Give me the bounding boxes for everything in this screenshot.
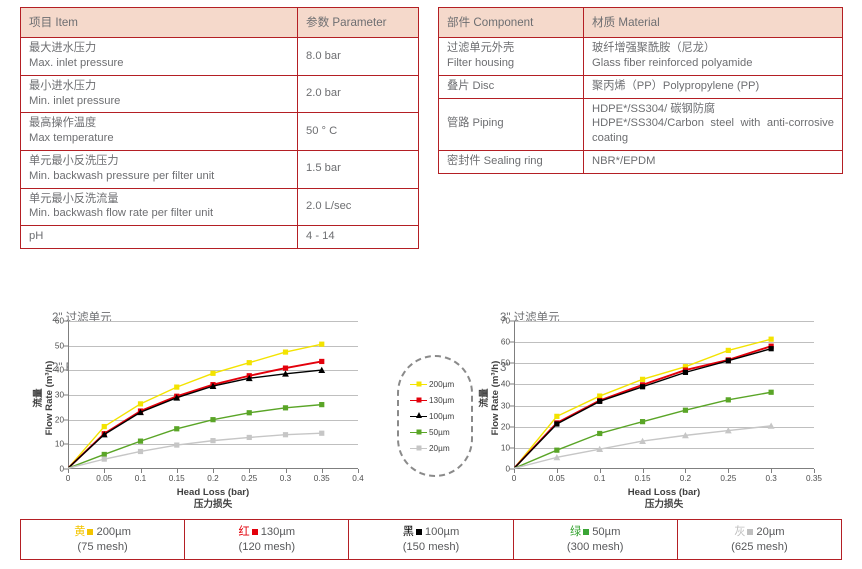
x-axis-tickmark — [643, 469, 644, 473]
spec-item-cn: 单元最小反洗压力 — [29, 154, 289, 169]
chart-2in-series-layer — [68, 321, 358, 469]
spec-item-cell: 最高操作温度Max temperature — [21, 113, 298, 151]
data-point-50µm — [683, 408, 688, 413]
mesh-micron-label: 50µm — [592, 525, 620, 540]
data-point-20µm — [174, 442, 179, 447]
y-axis-label-cn: 流量 — [33, 314, 44, 482]
data-point-200µm — [597, 393, 602, 398]
data-point-20µm — [283, 432, 288, 437]
material-value-cell: 聚丙烯（PP）Polypropylene (PP) — [584, 75, 843, 98]
data-point-50µm — [138, 439, 143, 444]
y-axis-label-en: Flow Rate (m³/h) — [44, 314, 55, 482]
legend-label: 130µm — [429, 396, 454, 405]
material-value-cell: NBR*/EPDM — [584, 150, 843, 173]
data-point-20µm — [138, 449, 143, 454]
mesh-color-swatch — [416, 529, 422, 535]
mesh-micron-label: 130µm — [261, 525, 295, 540]
data-point-200µm — [283, 349, 288, 354]
spec-item-cn: pH — [29, 229, 289, 244]
spec-value-cell: 1.5 bar — [298, 150, 419, 188]
mesh-micron-label: 20µm — [756, 525, 784, 540]
x-axis-tickmark — [68, 469, 69, 473]
material-value-cn: 聚丙烯（PP）Polypropylene (PP) — [592, 79, 834, 94]
table-header-row: 项目 Item 参数 Parameter — [21, 8, 419, 38]
x-axis-tickmark — [771, 469, 772, 473]
chart-3in-series-layer — [514, 321, 814, 469]
mesh-color-name-cn: 灰 — [734, 525, 745, 540]
data-point-50µm — [283, 405, 288, 410]
legend-swatch-50µm — [410, 428, 427, 437]
mesh-color-swatch — [252, 529, 258, 535]
mesh-size-legend-bar: 黄200µm(75 mesh)红130µm(120 mesh)黑100µm(15… — [20, 519, 842, 560]
material-component-cn: 管路 Piping — [447, 116, 575, 131]
mesh-color-swatch — [87, 529, 93, 535]
series-line-20µm — [68, 433, 322, 468]
mesh-count-label: (120 mesh) — [239, 540, 296, 555]
data-point-50µm — [210, 417, 215, 422]
x-axis-tickmark — [177, 469, 178, 473]
legend-item: 20µm — [410, 440, 471, 456]
data-point-200µm — [769, 337, 774, 342]
data-point-50µm — [640, 419, 645, 424]
spec-item-cell: 单元最小反洗压力Min. backwash pressure per filte… — [21, 150, 298, 188]
data-point-130µm — [319, 359, 324, 364]
spec-item-cn: 最高操作温度 — [29, 116, 289, 131]
table-row: 过滤单元外壳Filter housing玻纤增强聚酰胺（尼龙）Glass fib… — [439, 38, 843, 76]
mesh-legend-cell: 红130µm(120 mesh) — [185, 520, 349, 559]
spec-value-cell: 2.0 L/sec — [298, 188, 419, 226]
data-point-50µm — [554, 448, 559, 453]
chart-3in-x-axis-label: Head Loss (bar)压力损失 — [514, 487, 814, 511]
mesh-count-label: (150 mesh) — [403, 540, 460, 555]
x-axis-tickmark — [286, 469, 287, 473]
mesh-count-label: (75 mesh) — [77, 540, 127, 555]
data-point-200µm — [102, 424, 107, 429]
data-point-50µm — [597, 431, 602, 436]
material-value-cn: NBR*/EPDM — [592, 154, 834, 169]
spec-value-cell: 50 ° C — [298, 113, 419, 151]
x-axis-tickmark — [358, 469, 359, 473]
material-component-cn: 过滤单元外壳 — [447, 41, 575, 56]
chart-3in-plot-area: 01020304050607000.050.10.150.20.250.30.3… — [462, 277, 852, 517]
spec-item-en: Min. backwash pressure per filter unit — [29, 169, 289, 184]
spec-item-cn: 最大进水压力 — [29, 41, 289, 56]
x-axis-label-cn: 压力损失 — [68, 499, 358, 511]
chart-2in-y-axis-label: 流量Flow Rate (m³/h) — [33, 314, 55, 482]
spec-value-cell: 8.0 bar — [298, 38, 419, 76]
material-value-cell: 玻纤增强聚酰胺（尼龙）Glass fiber reinforced polyam… — [584, 38, 843, 76]
legend-swatch-200µm — [410, 380, 427, 389]
spec-item-en: Min. backwash flow rate per filter unit — [29, 206, 289, 221]
page-root: 项目 Item 参数 Parameter 最大进水压力Max. inlet pr… — [0, 0, 862, 569]
spec-item-cn: 单元最小反洗流量 — [29, 192, 289, 207]
spec-item-en: Max temperature — [29, 131, 289, 146]
x-axis-tickmark — [213, 469, 214, 473]
legend-swatch-100µm — [410, 412, 427, 421]
mesh-count-label: (300 mesh) — [567, 540, 624, 555]
data-point-200µm — [726, 348, 731, 353]
mesh-color-name-cn: 绿 — [570, 525, 581, 540]
material-component-cell: 过滤单元外壳Filter housing — [439, 38, 584, 76]
data-point-20µm — [319, 431, 324, 436]
column-header-item: 项目 Item — [21, 8, 298, 38]
data-point-50µm — [247, 410, 252, 415]
x-axis-tickmark — [141, 469, 142, 473]
materials-table: 部件 Component 材质 Material 过滤单元外壳Filter ho… — [438, 7, 843, 174]
data-point-100µm — [597, 399, 602, 404]
data-point-50µm — [174, 426, 179, 431]
legend-label: 20µm — [429, 444, 450, 453]
x-axis-tickmark — [814, 469, 815, 473]
mesh-legend-cell: 黑100µm(150 mesh) — [349, 520, 513, 559]
series-line-100µm — [514, 349, 771, 469]
table-row: 叠片 Disc聚丙烯（PP）Polypropylene (PP) — [439, 75, 843, 98]
mesh-color-name-cn: 黑 — [403, 525, 414, 540]
mesh-color-swatch — [583, 529, 589, 535]
spec-item-en: Max. inlet pressure — [29, 56, 289, 71]
data-point-20µm — [102, 457, 107, 462]
mesh-micron-label: 100µm — [425, 525, 459, 540]
mesh-legend-cell: 绿50µm(300 mesh) — [514, 520, 678, 559]
y-axis-label-cn: 流量 — [479, 314, 490, 482]
data-point-100µm — [726, 358, 731, 363]
y-axis-label-en: Flow Rate (m³/h) — [490, 314, 501, 482]
table-row: 密封件 Sealing ringNBR*/EPDM — [439, 150, 843, 173]
column-header-component: 部件 Component — [439, 8, 584, 38]
material-component-cell: 管路 Piping — [439, 98, 584, 150]
operating-parameters-table: 项目 Item 参数 Parameter 最大进水压力Max. inlet pr… — [20, 7, 419, 249]
x-axis-tickmark — [249, 469, 250, 473]
legend-item: 100µm — [410, 408, 471, 424]
mesh-color-name-cn: 黄 — [74, 525, 85, 540]
column-header-parameter: 参数 Parameter — [298, 8, 419, 38]
material-value-cn: 玻纤增强聚酰胺（尼龙） — [592, 41, 834, 56]
spec-item-cell: 单元最小反洗流量Min. backwash flow rate per filt… — [21, 188, 298, 226]
data-point-200µm — [247, 360, 252, 365]
x-axis-tickmark — [600, 469, 601, 473]
x-axis-tickmark — [685, 469, 686, 473]
x-axis-tickmark — [104, 469, 105, 473]
series-line-20µm — [514, 426, 771, 469]
x-axis-label-en: Head Loss (bar) — [68, 487, 358, 499]
spec-item-cell: pH — [21, 226, 298, 249]
table-header-row: 部件 Component 材质 Material — [439, 8, 843, 38]
spec-item-cell: 最小进水压力Min. inlet pressure — [21, 75, 298, 113]
legend-swatch-130µm — [410, 396, 427, 405]
data-point-200µm — [174, 385, 179, 390]
material-value-en: HDPE*/SS304/Carbon steel with anti-corro… — [592, 116, 834, 146]
table-row: pH4 - 14 — [21, 226, 419, 249]
data-point-130µm — [283, 366, 288, 371]
legend-item: 50µm — [410, 424, 471, 440]
mesh-micron-label: 200µm — [96, 525, 130, 540]
data-point-100µm — [769, 346, 774, 351]
chart-2in-plot-area: 010203040506000.050.10.150.20.250.30.350… — [20, 277, 400, 517]
data-point-200µm — [640, 377, 645, 382]
mesh-color-swatch — [747, 529, 753, 535]
material-component-en: Filter housing — [447, 56, 575, 71]
mesh-count-label: (625 mesh) — [731, 540, 788, 555]
data-point-50µm — [726, 397, 731, 402]
chart-legend: 200µm130µm100µm50µm20µm — [397, 355, 473, 477]
material-component-cn: 叠片 Disc — [447, 79, 575, 94]
material-component-cell: 密封件 Sealing ring — [439, 150, 584, 173]
spec-value-cell: 2.0 bar — [298, 75, 419, 113]
data-point-200µm — [210, 371, 215, 376]
data-point-200µm — [554, 414, 559, 419]
legend-label: 50µm — [429, 428, 450, 437]
spec-item-cell: 最大进水压力Max. inlet pressure — [21, 38, 298, 76]
data-point-50µm — [769, 390, 774, 395]
x-axis-tickmark — [514, 469, 515, 473]
legend-label: 100µm — [429, 412, 454, 421]
legend-swatch-20µm — [410, 444, 427, 453]
mesh-legend-cell: 灰20µm(625 mesh) — [678, 520, 841, 559]
spec-item-cn: 最小进水压力 — [29, 79, 289, 94]
chart-3in-y-axis-label: 流量Flow Rate (m³/h) — [479, 314, 501, 482]
column-header-material: 材质 Material — [584, 8, 843, 38]
x-axis-tickmark — [322, 469, 323, 473]
data-point-20µm — [247, 435, 252, 440]
data-point-50µm — [319, 402, 324, 407]
material-value-cell: HDPE*/SS304/ 碳钢防腐HDPE*/SS304/Carbon stee… — [584, 98, 843, 150]
mesh-color-name-cn: 红 — [238, 525, 249, 540]
x-axis-tickmark — [557, 469, 558, 473]
mesh-legend-cell: 黄200µm(75 mesh) — [21, 520, 185, 559]
material-value-cn: HDPE*/SS304/ 碳钢防腐 — [592, 102, 834, 117]
legend-item: 200µm — [410, 376, 471, 392]
x-axis-label-cn: 压力损失 — [514, 499, 814, 511]
chart-3in-axes: 01020304050607000.050.10.150.20.250.30.3… — [514, 321, 814, 469]
series-line-130µm — [514, 346, 771, 468]
data-point-20µm — [210, 438, 215, 443]
table-row: 管路 PipingHDPE*/SS304/ 碳钢防腐HDPE*/SS304/Ca… — [439, 98, 843, 150]
x-axis-tickmark — [728, 469, 729, 473]
table-row: 最高操作温度Max temperature50 ° C — [21, 113, 419, 151]
table-row: 单元最小反洗压力Min. backwash pressure per filte… — [21, 150, 419, 188]
data-point-100µm — [640, 384, 645, 389]
x-axis-label-en: Head Loss (bar) — [514, 487, 814, 499]
data-point-200µm — [319, 342, 324, 347]
data-point-200µm — [138, 401, 143, 406]
table-row: 最小进水压力Min. inlet pressure2.0 bar — [21, 75, 419, 113]
data-point-50µm — [102, 452, 107, 457]
chart-2in-x-axis-label: Head Loss (bar)压力损失 — [68, 487, 358, 511]
chart-2in-axes: 010203040506000.050.10.150.20.250.30.350… — [68, 321, 358, 469]
legend-item: 130µm — [410, 392, 471, 408]
legend-label: 200µm — [429, 380, 454, 389]
table-row: 最大进水压力Max. inlet pressure8.0 bar — [21, 38, 419, 76]
material-component-cell: 叠片 Disc — [439, 75, 584, 98]
data-point-100µm — [683, 370, 688, 375]
spec-item-en: Min. inlet pressure — [29, 94, 289, 109]
spec-value-cell: 4 - 14 — [298, 226, 419, 249]
table-row: 单元最小反洗流量Min. backwash flow rate per filt… — [21, 188, 419, 226]
material-value-en: Glass fiber reinforced polyamide — [592, 56, 834, 71]
material-component-cn: 密封件 Sealing ring — [447, 154, 575, 169]
data-point-100µm — [554, 421, 559, 426]
